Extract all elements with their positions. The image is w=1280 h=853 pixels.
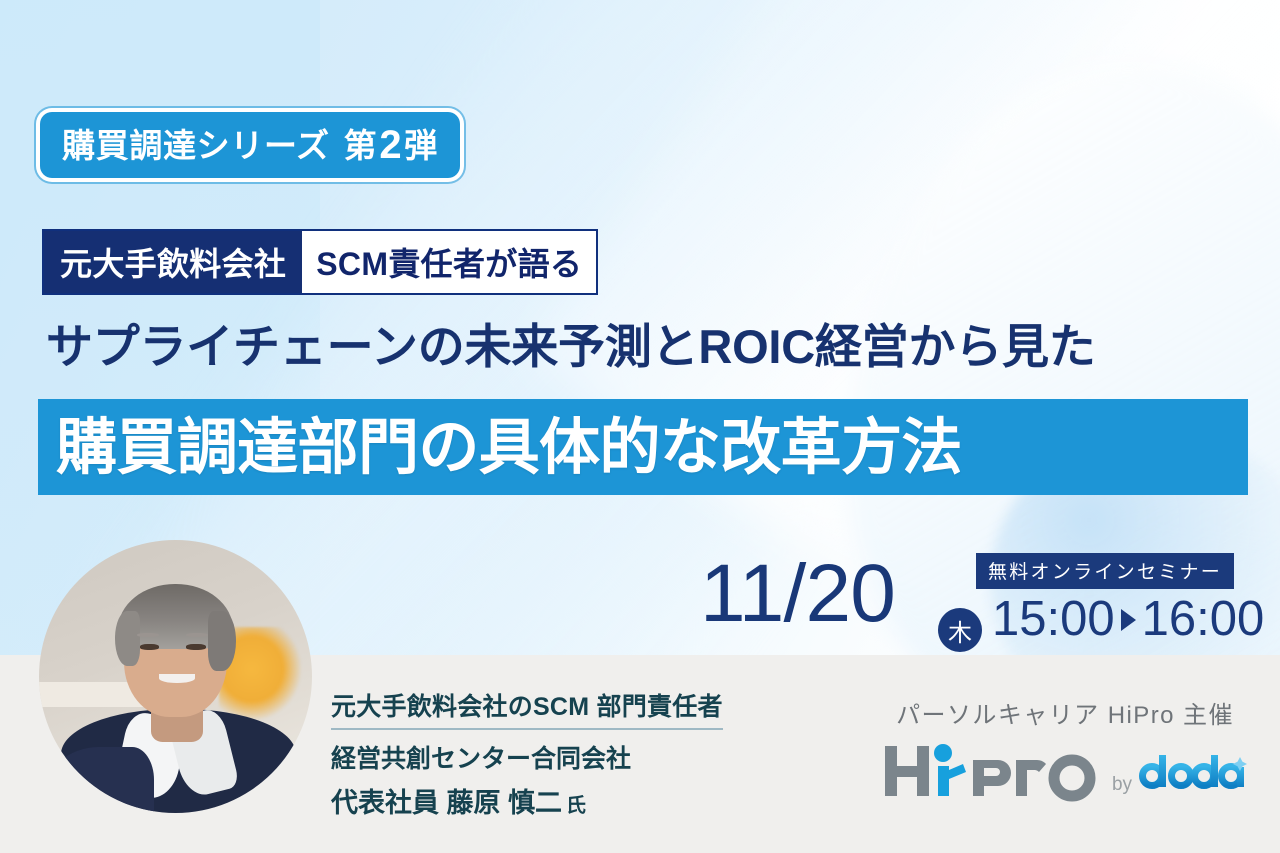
seminar-banner: 購買調達シリーズ 第 2 弾 元大手飲料会社 SCM責任者が語る サプライチェー…	[0, 0, 1280, 853]
portrait-eye-left	[140, 644, 159, 650]
speaker-role: 元大手飲料会社のSCM 部門責任者	[331, 687, 723, 730]
speaker-portrait-avatar	[39, 540, 312, 813]
event-date: 11/20	[700, 553, 895, 635]
host-block: パーソルキャリア HiPro 主催	[875, 695, 1255, 802]
event-datetime-block: 11/20 木 無料オンラインセミナー 15:00 16:00	[700, 545, 1245, 650]
online-seminar-badge: 無料オンラインセミナー	[976, 553, 1234, 589]
event-time-range: 15:00 16:00	[992, 595, 1264, 644]
series-badge-number: 2	[377, 125, 404, 165]
event-time-start: 15:00	[992, 595, 1115, 644]
series-badge-suffix: 弾	[404, 129, 438, 162]
portrait-hair-right	[208, 611, 235, 671]
headline-band: 購買調達部門の具体的な改革方法	[38, 399, 1248, 495]
event-day-of-week-badge: 木	[938, 608, 982, 652]
subtitle-light-segment: SCM責任者が語る	[302, 231, 596, 293]
subtitle-dark-segment: 元大手飲料会社	[44, 231, 302, 293]
by-doda-block: by	[1112, 754, 1247, 802]
speaker-info: 元大手飲料会社のSCM 部門責任者 経営共創センター合同会社 代表社員 藤原 慎…	[331, 687, 801, 820]
logo-row: by	[875, 740, 1255, 802]
hipro-logo-icon	[883, 740, 1098, 802]
arrow-right-icon	[1121, 609, 1136, 631]
headline-line-1: サプライチェーンの未来予測とROIC経営から見た	[46, 322, 1246, 373]
portrait-eyebrow-right	[186, 633, 208, 637]
doda-logo-icon	[1139, 754, 1247, 790]
subtitle-strip: 元大手飲料会社 SCM責任者が語る	[42, 229, 598, 295]
portrait-eyebrow-left	[137, 633, 159, 637]
series-badge-label: 第	[344, 129, 378, 162]
series-badge-prefix: 購買調達シリーズ	[62, 129, 330, 162]
host-line: パーソルキャリア HiPro 主催	[875, 695, 1255, 730]
portrait-eye-right	[186, 644, 205, 650]
by-text: by	[1112, 774, 1132, 796]
portrait-smile	[159, 674, 194, 683]
event-time-end: 16:00	[1142, 595, 1265, 644]
speaker-company: 経営共創センター合同会社	[331, 739, 801, 775]
headline-line-2: 購買調達部門の具体的な改革方法	[38, 417, 962, 478]
speaker-name-text: 代表社員 藤原 慎二	[331, 788, 562, 818]
speaker-name-suffix: 氏	[566, 795, 586, 817]
series-badge: 購買調達シリーズ 第 2 弾	[40, 112, 460, 178]
speaker-name: 代表社員 藤原 慎二氏	[331, 781, 801, 820]
portrait-hair-left	[115, 611, 140, 666]
